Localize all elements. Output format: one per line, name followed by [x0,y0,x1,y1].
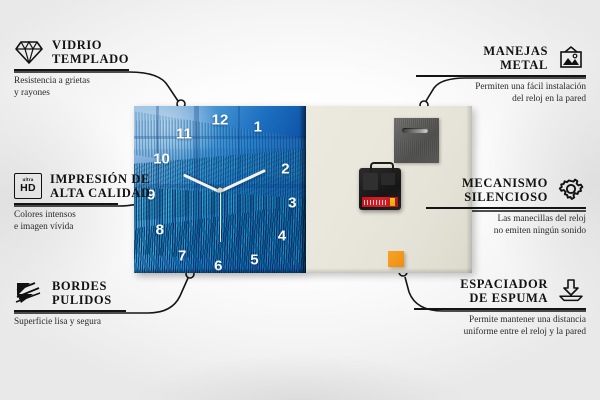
hanger-slot [402,128,428,133]
ultra-hd-icon-bottom: HD [20,183,36,194]
clock-numeral-2: 2 [281,162,289,177]
feature-title: ESPACIADOR DE ESPUMA [460,277,548,305]
feature-rule [416,75,586,77]
picture-frame-hanger-icon [556,45,586,71]
feature-rule [426,207,586,209]
feature-rule [414,308,586,310]
feature-manejas-metal: MANEJAS METAL Permiten una fácil instala… [416,44,586,106]
metal-grain [394,118,439,163]
clock-numeral-4: 4 [278,229,286,244]
clock-numeral-12: 12 [212,113,229,128]
clock-numeral-8: 8 [156,222,164,237]
arrow-down-layers-icon [556,278,586,304]
clock-numeral-10: 10 [153,152,170,167]
feature-title: VIDRIO TEMPLADO [52,38,129,66]
ultra-hd-icon: ultra HD [14,173,42,199]
feature-description: Las manecillas del reloj no emiten ningú… [426,213,586,238]
feature-description: Superficie lisa y segura [14,316,154,329]
feature-title: MECANISMO SILENCIOSO [462,176,548,204]
feature-rule [14,69,129,71]
feature-description: Resistencia a grietas y rayones [14,75,144,100]
feature-rule [14,310,126,312]
artwork-grid-line [238,106,240,273]
artwork-grid-line [194,106,199,273]
foam-spacer [388,251,404,267]
feature-header: VIDRIO TEMPLADO [14,38,144,66]
feature-mecanismo-silencioso: MECANISMO SILENCIOSO Las manecillas del … [426,176,586,238]
feature-title: BORDES PULIDOS [52,279,112,307]
diagonal-stripes-icon [14,280,44,306]
feature-description: Colores intensos e imagen vívida [14,209,154,234]
metal-hanger-plate [394,118,439,163]
clock-front-panel: 12 1 2 3 4 5 6 7 8 9 10 11 [134,106,306,273]
feature-header: MECANISMO SILENCIOSO [426,176,586,204]
feature-rule [14,203,118,205]
artwork-grid-line [134,136,306,139]
clock-second-hand [220,190,221,242]
clock-numeral-7: 7 [178,249,186,264]
feature-title: MANEJAS METAL [483,44,548,72]
feature-title: IMPRESIÓN DE ALTA CALIDAD [50,172,151,200]
feature-bordes-pulidos: BORDES PULIDOS Superficie lisa y segura [14,279,154,328]
feature-header: MANEJAS METAL [416,44,586,72]
artwork-grid-line [156,106,159,273]
feature-header: ESPACIADOR DE ESPUMA [414,277,586,305]
clock-numeral-11: 11 [176,127,192,142]
quartz-mechanism [359,168,401,210]
mechanism-bracket [370,162,394,172]
clock-hub [218,187,223,192]
feature-vidrio-templado: VIDRIO TEMPLADO Resistencia a grietas y … [14,38,144,100]
infographic-canvas: 12 1 2 3 4 5 6 7 8 9 10 11 [0,0,600,400]
panel-edge-shadow [299,106,306,273]
mechanism-body [381,173,395,185]
panel-edge-shadow [306,268,472,273]
label-text-lines [364,200,388,205]
diamond-icon [14,39,44,65]
mechanism-body [363,173,378,190]
feature-espaciador-espuma: ESPACIADOR DE ESPUMA Permite mantener un… [414,277,586,339]
clock-numeral-3: 3 [288,195,296,210]
feature-description: Permite mantener una distancia uniforme … [414,314,586,339]
clock-numeral-1: 1 [254,120,262,135]
feature-header: ultra HD IMPRESIÓN DE ALTA CALIDAD [14,172,154,200]
feature-description: Permiten una fácil instalación del reloj… [416,81,586,106]
clock-numeral-5: 5 [250,252,258,267]
panel-edge-shadow [134,268,306,273]
feature-header: BORDES PULIDOS [14,279,154,307]
mechanism-label [362,197,398,207]
feature-impresion-alta-calidad: ultra HD IMPRESIÓN DE ALTA CALIDAD Color… [14,172,154,234]
gear-icon [556,177,586,203]
